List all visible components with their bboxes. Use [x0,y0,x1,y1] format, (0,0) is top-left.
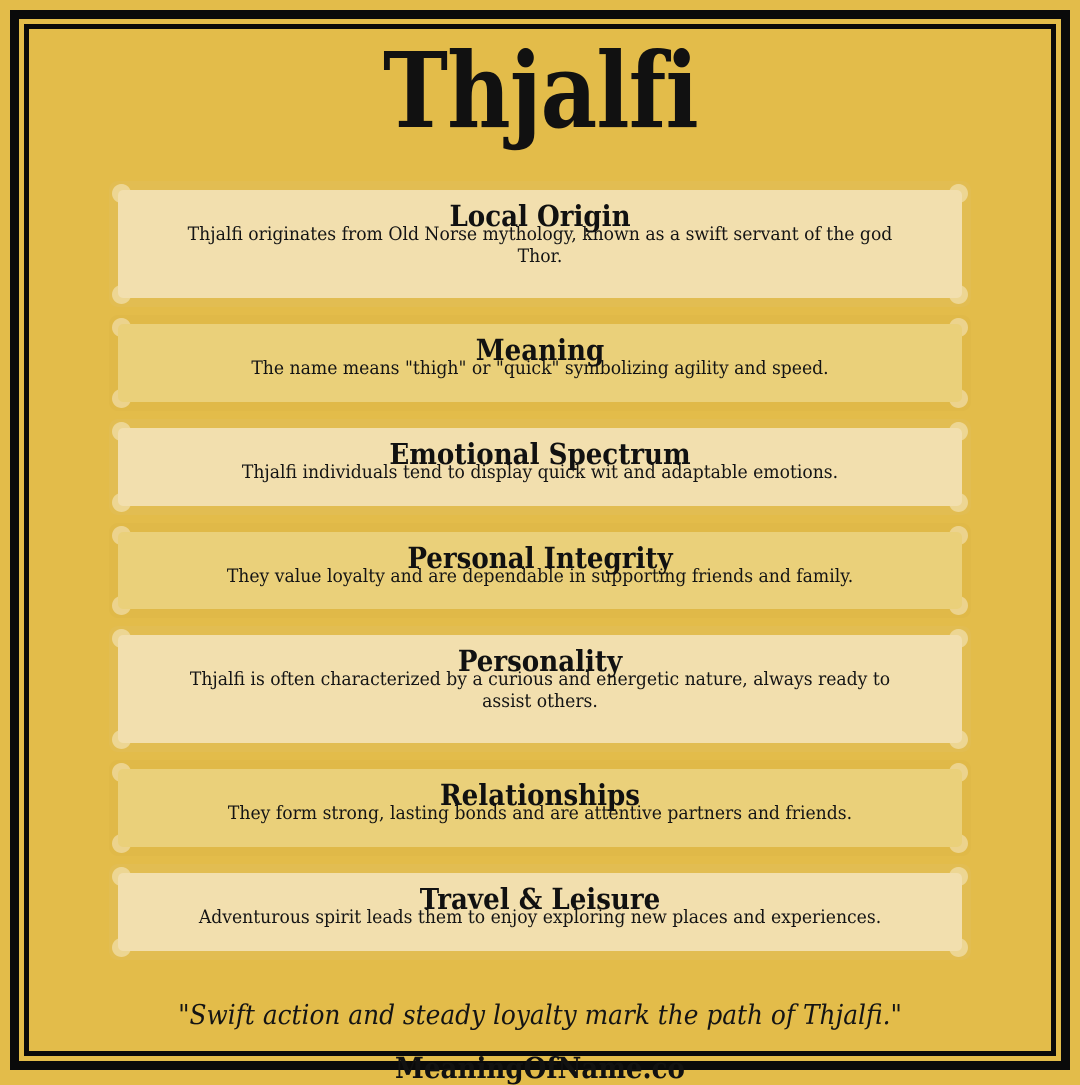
section-card: Travel & LeisureAdventurous spirit leads… [109,864,971,960]
page-title: Thjalfi [383,35,698,147]
section-card-panel: Emotional SpectrumThjalfi individuals te… [118,428,962,506]
section-card: PersonalityThjalfi is often characterize… [109,626,971,752]
section-card-list: Local OriginThjalfi originates from Old … [109,181,971,959]
section-card-panel: Local OriginThjalfi originates from Old … [118,190,962,298]
section-card-panel: PersonalityThjalfi is often characterize… [118,635,962,743]
poster-content: Thjalfi Local OriginThjalfi originates f… [29,29,1051,1051]
section-card: Local OriginThjalfi originates from Old … [109,181,971,307]
section-card: Personal IntegrityThey value loyalty and… [109,523,971,619]
section-body-text: They form strong, lasting bonds and are … [179,803,901,825]
section-card-panel: Personal IntegrityThey value loyalty and… [118,532,962,610]
poster-footer: "Swift action and steady loyalty mark th… [109,1000,971,1085]
section-card-panel: MeaningThe name means "thigh" or "quick"… [118,324,962,402]
section-body-text: Thjalfi is often characterized by a curi… [179,669,901,713]
footer-quote: "Swift action and steady loyalty mark th… [143,1000,936,1031]
section-body-text: Adventurous spirit leads them to enjoy e… [179,907,901,929]
section-body-text: Thjalfi individuals tend to display quic… [179,462,901,484]
section-body-text: They value loyalty and are dependable in… [179,566,901,588]
name-meaning-poster: Thjalfi Local OriginThjalfi originates f… [0,0,1080,1080]
section-card: Emotional SpectrumThjalfi individuals te… [109,419,971,515]
section-card: MeaningThe name means "thigh" or "quick"… [109,315,971,411]
section-body-text: Thjalfi originates from Old Norse mythol… [179,224,901,268]
section-card: RelationshipsThey form strong, lasting b… [109,760,971,856]
section-card-panel: Travel & LeisureAdventurous spirit leads… [118,873,962,951]
section-body-text: The name means "thigh" or "quick" symbol… [179,358,901,380]
section-card-panel: RelationshipsThey form strong, lasting b… [118,769,962,847]
